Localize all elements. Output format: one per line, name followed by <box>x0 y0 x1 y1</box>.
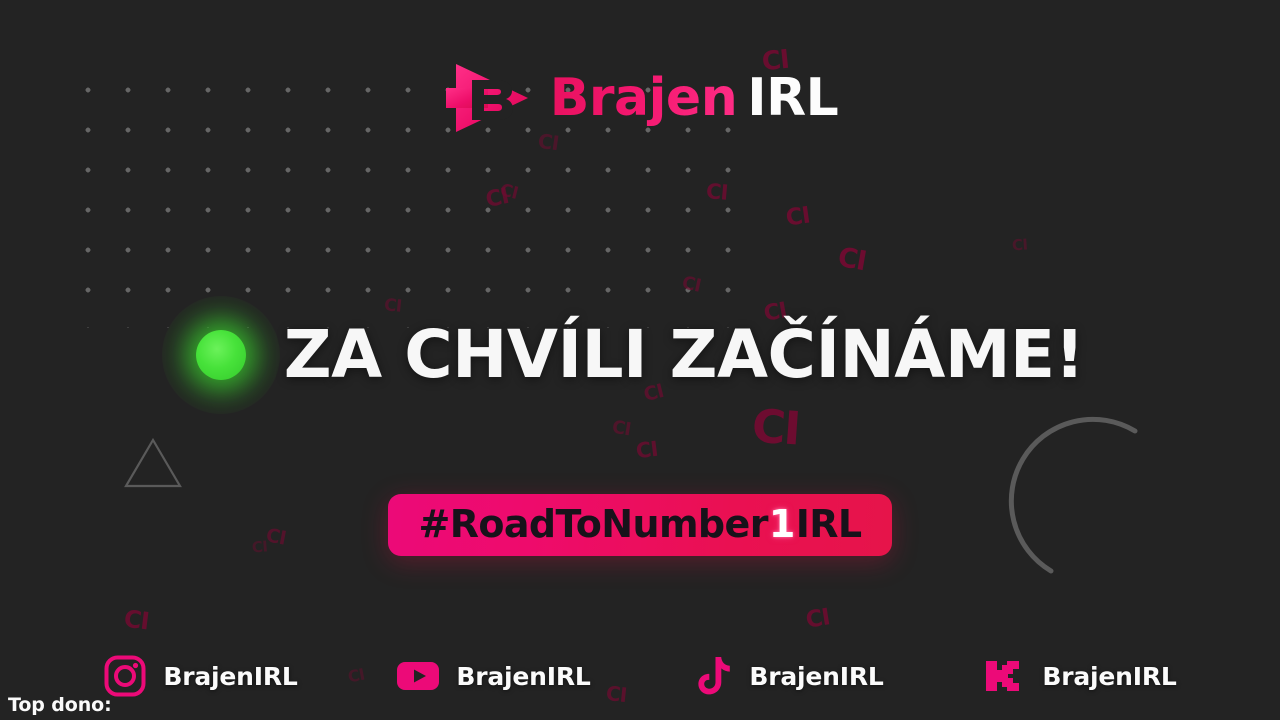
stream-overlay-screen: CICICICICICICICICICICICICICICICICICICICI… <box>0 0 1280 720</box>
background-particle: CI <box>635 439 659 462</box>
instagram-icon <box>103 654 147 698</box>
hashtag-suffix: IRL <box>796 505 862 543</box>
background-particle: CI <box>836 244 868 275</box>
background-particle: CI <box>785 204 812 230</box>
background-particle: CI <box>484 186 511 212</box>
hashtag-prefix: #RoadToNumber <box>418 505 767 543</box>
background-particle: CI <box>680 274 702 295</box>
youtube-icon <box>396 654 440 698</box>
social-link-tiktok[interactable]: BrajenIRL <box>689 654 883 698</box>
brand-wordmark: BrajenIRL <box>550 72 839 124</box>
triangle-outline-icon <box>120 434 186 492</box>
hashtag-badge-row: #RoadToNumber1IRL <box>0 494 1280 556</box>
tiktok-icon <box>689 654 733 698</box>
kick-icon <box>982 654 1026 698</box>
background-particle: CI <box>123 607 150 634</box>
live-dot-core <box>196 330 246 380</box>
background-particle: CI <box>383 297 402 316</box>
headline-block: ZA CHVÍLI ZAČÍNÁME! <box>0 322 1280 388</box>
social-handle: BrajenIRL <box>456 664 590 689</box>
social-handle: BrajenIRL <box>1042 664 1176 689</box>
social-handle: BrajenIRL <box>749 664 883 689</box>
social-handle: BrajenIRL <box>163 664 297 689</box>
background-particle: CI <box>1011 237 1027 253</box>
live-dot-icon <box>196 330 246 380</box>
brand-primary-text: Brajen <box>550 68 737 128</box>
hashtag-highlight-number: 1 <box>769 505 795 543</box>
social-link-youtube[interactable]: BrajenIRL <box>396 654 590 698</box>
social-link-instagram[interactable]: BrajenIRL <box>103 654 297 698</box>
social-links-bar: BrajenIRL BrajenIRL BrajenIRL BrajenIRL <box>0 654 1280 698</box>
page-title: ZA CHVÍLI ZAČÍNÁME! <box>284 322 1084 388</box>
brand-logo: BrajenIRL <box>0 58 1280 138</box>
play-triangle-b-logo-icon <box>442 58 532 138</box>
background-particle: CI <box>611 419 632 440</box>
status-badge: #RoadToNumber1IRL <box>388 494 891 556</box>
background-particle: CI <box>705 181 728 204</box>
background-particle: CI <box>750 402 800 451</box>
brand-secondary-text: IRL <box>747 68 838 128</box>
background-particle: CI <box>498 182 519 203</box>
hashtag-text: #RoadToNumber1IRL <box>418 505 861 543</box>
background-particle: CI <box>804 606 831 632</box>
social-link-kick[interactable]: BrajenIRL <box>982 654 1176 698</box>
top-donation-label: Top dono: <box>8 695 112 716</box>
